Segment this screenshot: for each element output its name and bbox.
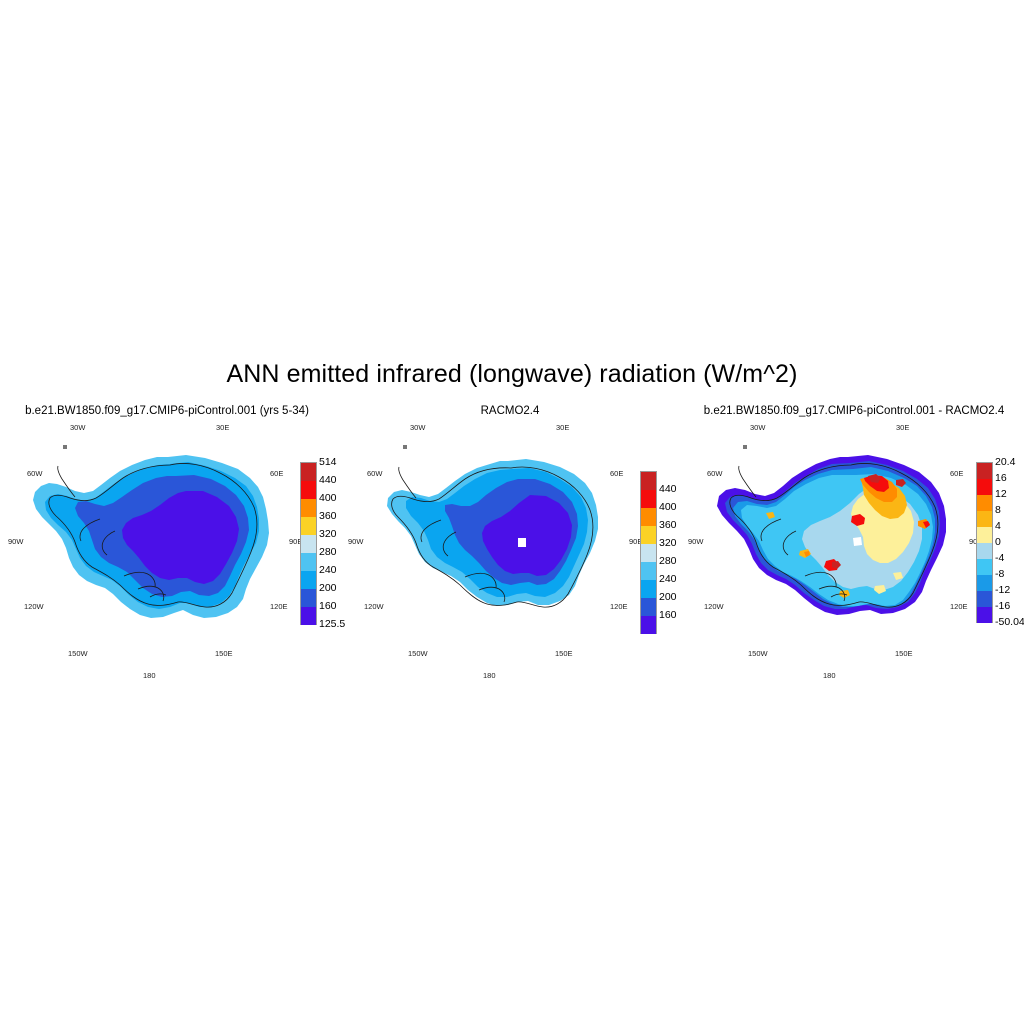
colorbar-tick-label: -50.04 bbox=[995, 616, 1024, 628]
filled-contours bbox=[33, 455, 269, 618]
colorbar-tick-label: 400 bbox=[319, 492, 337, 504]
pole-gap bbox=[853, 537, 862, 546]
colorbar-tick-label: 16 bbox=[995, 472, 1007, 484]
colorbar-band bbox=[640, 490, 657, 508]
colorbar-tick-label: 20.4 bbox=[995, 456, 1015, 468]
antarctica-map-racmo bbox=[340, 421, 680, 683]
colorbar-band bbox=[300, 517, 317, 535]
colorbar-tick-label: 320 bbox=[319, 528, 337, 540]
colorbar-band bbox=[976, 462, 993, 479]
antarctica-map-difference bbox=[680, 421, 1024, 683]
colorbar-band bbox=[300, 499, 317, 517]
colorbar-band bbox=[640, 616, 657, 634]
colorbar-band bbox=[300, 589, 317, 607]
colorbar-racmo[interactable]: 440 400 360 320 280 240 200 160 bbox=[640, 471, 655, 634]
colorbar-tick-label: 360 bbox=[659, 519, 677, 531]
colorbar-band bbox=[976, 527, 993, 543]
colorbar-tick-label: 514 bbox=[319, 456, 337, 468]
colorbar-tick-label: 400 bbox=[659, 501, 677, 513]
colorbar-band bbox=[976, 607, 993, 623]
colorbar-tick-label: 440 bbox=[319, 474, 337, 486]
colorbar-difference[interactable]: 20.4 16 12 8 4 0 -4 -8 -12 -16 -50.04 bbox=[976, 462, 991, 623]
colorbar-tick-label: 160 bbox=[319, 600, 337, 612]
colorbar-tick-label: 200 bbox=[319, 582, 337, 594]
colorbar-tick-label: 280 bbox=[659, 555, 677, 567]
colorbar-band bbox=[640, 508, 657, 526]
colorbar-tick-label: -16 bbox=[995, 600, 1010, 612]
colorbar-tick-label: 280 bbox=[319, 546, 337, 558]
page-title: ANN emitted infrared (longwave) radiatio… bbox=[0, 360, 1024, 389]
map-area: 30W 30E 60W 60E 90W 90E 120W 120E 150W 1… bbox=[680, 421, 1024, 683]
map-area: 30W 30E 60W 60E 90W 90E 120W 120E 150W 1… bbox=[340, 421, 680, 683]
colorbar-tick-label: 0 bbox=[995, 536, 1001, 548]
colorbar-tick-label: 4 bbox=[995, 520, 1001, 532]
colorbar-tick-label: -4 bbox=[995, 552, 1004, 564]
panel-racmo: RACMO2.4 30W 30E 60W 60E 90W 90E 120W 12… bbox=[340, 405, 680, 690]
colorbar-tick-label: 200 bbox=[659, 591, 677, 603]
figure-canvas: ANN emitted infrared (longwave) radiatio… bbox=[0, 0, 1024, 1024]
panel-title: b.e21.BW1850.f09_g17.CMIP6-piControl.001… bbox=[0, 405, 337, 417]
colorbar-band bbox=[976, 559, 993, 575]
colorbar-band bbox=[300, 607, 317, 625]
antarctica-map-model bbox=[0, 421, 340, 683]
colorbar-band bbox=[976, 543, 993, 559]
colorbar-tick-label: 320 bbox=[659, 537, 677, 549]
colorbar-band bbox=[300, 462, 317, 481]
colorbar-band bbox=[640, 580, 657, 598]
colorbar-model[interactable]: 514 440 400 360 320 280 240 200 160 125.… bbox=[300, 462, 315, 625]
panel-model: b.e21.BW1850.f09_g17.CMIP6-piControl.001… bbox=[0, 405, 340, 690]
colorbar-band bbox=[640, 562, 657, 580]
colorbar-tick-label: 160 bbox=[659, 609, 677, 621]
colorbar-band bbox=[300, 481, 317, 499]
colorbar-band bbox=[300, 571, 317, 589]
colorbar-tick-label: -8 bbox=[995, 568, 1004, 580]
colorbar-tick-label: 8 bbox=[995, 504, 1001, 516]
colorbar-tick-label: -12 bbox=[995, 584, 1010, 596]
colorbar-band bbox=[976, 495, 993, 511]
colorbar-band bbox=[976, 479, 993, 495]
colorbar-band bbox=[300, 553, 317, 571]
colorbar-band bbox=[640, 544, 657, 562]
colorbar-band bbox=[640, 471, 657, 490]
colorbar-tick-label: 440 bbox=[659, 483, 677, 495]
pole-gap bbox=[518, 538, 526, 547]
colorbar-band bbox=[640, 598, 657, 616]
colorbar-band bbox=[976, 591, 993, 607]
colorbar-band bbox=[640, 526, 657, 544]
colorbar-tick-label: 12 bbox=[995, 488, 1007, 500]
colorbar-band bbox=[976, 511, 993, 527]
panel-difference: b.e21.BW1850.f09_g17.CMIP6-piControl.001… bbox=[680, 405, 1024, 690]
colorbar-tick-label: 240 bbox=[659, 573, 677, 585]
colorbar-band bbox=[300, 535, 317, 553]
panel-title: RACMO2.4 bbox=[340, 405, 680, 417]
map-area: 30W 30E 60W 60E 90W 90E 120W 120E 150W 1… bbox=[0, 421, 340, 683]
colorbar-band bbox=[976, 575, 993, 591]
panel-title: b.e21.BW1850.f09_g17.CMIP6-piControl.001… bbox=[682, 405, 1024, 417]
colorbar-tick-label: 240 bbox=[319, 564, 337, 576]
colorbar-tick-label: 360 bbox=[319, 510, 337, 522]
